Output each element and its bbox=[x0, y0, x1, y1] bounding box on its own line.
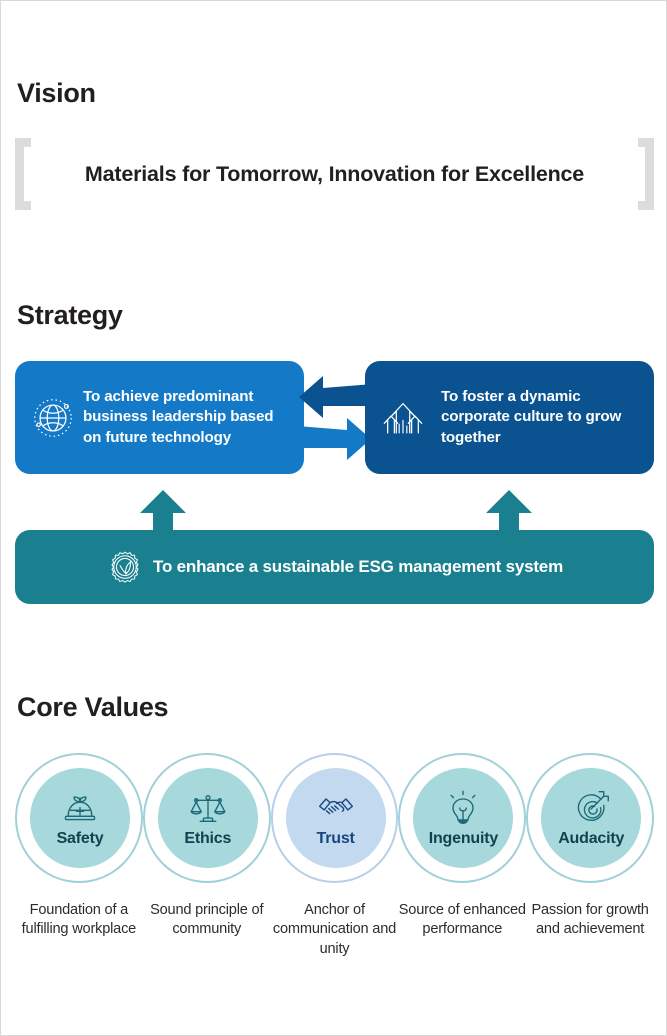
value-disc: Ingenuity bbox=[413, 768, 513, 868]
esg-foundation-text: To enhance a sustainable ESG management … bbox=[144, 557, 563, 577]
strategy-box-technology-text: To achieve predominant business leadersh… bbox=[77, 387, 290, 448]
core-values-heading: Core Values bbox=[17, 692, 168, 723]
core-value-ingenuity: Ingenuity bbox=[398, 753, 526, 883]
value-disc: Trust bbox=[286, 768, 386, 868]
value-caption: Anchor of communication and unity bbox=[271, 901, 399, 959]
strategy-box-technology: To achieve predominant business leadersh… bbox=[15, 361, 304, 474]
value-caption: Source of enhanced performance bbox=[398, 901, 526, 959]
value-label: Audacity bbox=[558, 830, 624, 848]
safety-helmet-sprout-icon bbox=[60, 789, 100, 829]
core-values-captions: Foundation of a fulfilling workplace Sou… bbox=[15, 901, 654, 959]
value-label: Trust bbox=[317, 830, 355, 848]
value-disc: Ethics bbox=[158, 768, 258, 868]
core-value-ethics: Ethics bbox=[143, 753, 271, 883]
gear-leaf-icon bbox=[106, 548, 144, 586]
value-label: Safety bbox=[57, 830, 104, 848]
value-label: Ingenuity bbox=[429, 830, 498, 848]
value-disc: Safety bbox=[30, 768, 130, 868]
bidirectional-arrow-icon bbox=[297, 374, 373, 462]
vision-statement-row: Materials for Tomorrow, Innovation for E… bbox=[11, 138, 658, 210]
core-value-safety: Safety bbox=[15, 753, 143, 883]
strategy-heading: Strategy bbox=[17, 300, 123, 331]
core-value-audacity: Audacity bbox=[526, 753, 654, 883]
vision-heading: Vision bbox=[17, 78, 96, 109]
lightbulb-icon bbox=[443, 789, 483, 829]
value-label: Ethics bbox=[184, 830, 231, 848]
core-values-row: Safety bbox=[15, 753, 654, 883]
core-value-trust: Trust bbox=[271, 753, 399, 883]
strategy-box-culture: To foster a dynamic corporate culture to… bbox=[365, 361, 654, 474]
handshake-icon bbox=[316, 789, 356, 829]
growth-arrows-icon bbox=[379, 394, 427, 442]
vision-strategy-values-page: Vision Materials for Tomorrow, Innovatio… bbox=[0, 0, 667, 1036]
globe-icon bbox=[29, 394, 77, 442]
target-arrow-icon bbox=[571, 789, 611, 829]
value-caption: Foundation of a fulfilling workplace bbox=[15, 901, 143, 959]
balance-scale-icon bbox=[188, 789, 228, 829]
vision-statement: Materials for Tomorrow, Innovation for E… bbox=[33, 162, 636, 187]
left-bracket-icon bbox=[11, 138, 33, 210]
value-caption: Passion for growth and achievement bbox=[526, 901, 654, 959]
right-bracket-icon bbox=[636, 138, 658, 210]
strategy-box-culture-text: To foster a dynamic corporate culture to… bbox=[427, 387, 640, 448]
value-disc: Audacity bbox=[541, 768, 641, 868]
esg-foundation-bar: To enhance a sustainable ESG management … bbox=[15, 530, 654, 604]
value-caption: Sound principle of community bbox=[143, 901, 271, 959]
